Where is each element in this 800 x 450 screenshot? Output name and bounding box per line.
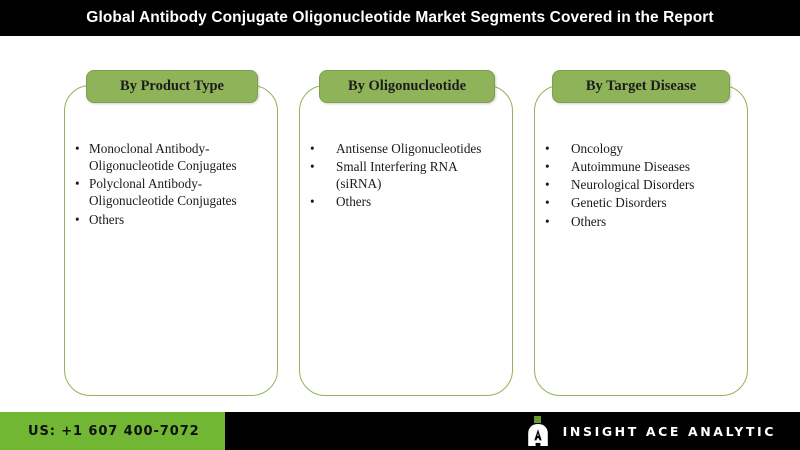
list-item: • Genetic Disorders — [545, 194, 737, 211]
segment-card-header-target-disease: By Target Disease — [552, 70, 730, 103]
list-item-label: Genetic Disorders — [571, 194, 737, 211]
bullet-icon: • — [310, 140, 315, 157]
bullet-icon: • — [310, 158, 315, 175]
bullet-icon: • — [310, 193, 315, 210]
segment-item-list: • Oncology • Autoimmune Diseases • Neuro… — [545, 140, 737, 230]
segment-card-product-type: • Monoclonal Antibody-Oligonucleotide Co… — [64, 85, 278, 396]
list-item-label: Others — [89, 211, 267, 228]
footer-bar: US: +1 607 400-7072 INSIGHT ACE ANALYTIC — [0, 412, 800, 450]
list-item-label: Others — [336, 193, 502, 210]
page-title: Global Antibody Conjugate Oligonucleotid… — [86, 9, 713, 27]
segment-card-body: • Oncology • Autoimmune Diseases • Neuro… — [535, 86, 747, 231]
list-item-label: Small Interfering RNA (siRNA) — [336, 158, 502, 192]
list-item: • Monoclonal Antibody-Oligonucleotide Co… — [75, 140, 267, 174]
list-item: • Small Interfering RNA (siRNA) — [310, 158, 502, 192]
bullet-icon: • — [75, 175, 80, 192]
list-item-label: Autoimmune Diseases — [571, 158, 737, 175]
title-bar: Global Antibody Conjugate Oligonucleotid… — [0, 0, 800, 36]
segment-card-header-label: By Product Type — [120, 78, 224, 95]
list-item: • Others — [310, 193, 502, 210]
bullet-icon: • — [545, 194, 550, 211]
segment-card-header-oligonucleotide: By Oligonucleotide — [319, 70, 495, 103]
list-item: • Others — [545, 213, 737, 230]
footer-brand-block: INSIGHT ACE ANALYTIC — [527, 412, 776, 450]
list-item: • Oncology — [545, 140, 737, 157]
insight-ace-logo-icon — [527, 416, 549, 446]
segment-card-body: • Antisense Oligonucleotides • Small Int… — [300, 86, 512, 212]
list-item-label: Neurological Disorders — [571, 176, 737, 193]
segment-card-body: • Monoclonal Antibody-Oligonucleotide Co… — [65, 86, 277, 229]
list-item-label: Polyclonal Antibody-Oligonucleotide Conj… — [89, 175, 267, 209]
segment-card-header-product-type: By Product Type — [86, 70, 258, 103]
bullet-icon: • — [75, 211, 80, 228]
footer-contact-block: US: +1 607 400-7072 — [0, 412, 225, 450]
segment-item-list: • Antisense Oligonucleotides • Small Int… — [310, 140, 502, 211]
list-item: • Neurological Disorders — [545, 176, 737, 193]
bullet-icon: • — [545, 158, 550, 175]
list-item: • Autoimmune Diseases — [545, 158, 737, 175]
list-item: • Polyclonal Antibody-Oligonucleotide Co… — [75, 175, 267, 209]
bullet-icon: • — [545, 140, 550, 157]
list-item-label: Others — [571, 213, 737, 230]
segment-card-header-label: By Target Disease — [586, 78, 696, 95]
segment-card-oligonucleotide: • Antisense Oligonucleotides • Small Int… — [299, 85, 513, 396]
list-item-label: Oncology — [571, 140, 737, 157]
list-item-label: Monoclonal Antibody-Oligonucleotide Conj… — [89, 140, 267, 174]
footer-brand-name: INSIGHT ACE ANALYTIC — [563, 424, 776, 439]
list-item: • Others — [75, 211, 267, 228]
list-item-label: Antisense Oligonucleotides — [336, 140, 502, 157]
segment-item-list: • Monoclonal Antibody-Oligonucleotide Co… — [75, 140, 267, 228]
segment-card-header-label: By Oligonucleotide — [348, 78, 466, 95]
logo-a-glyph — [527, 424, 549, 446]
infographic-canvas: • Monoclonal Antibody-Oligonucleotide Co… — [0, 36, 800, 412]
bullet-icon: • — [75, 140, 80, 157]
segment-card-target-disease: • Oncology • Autoimmune Diseases • Neuro… — [534, 85, 748, 396]
bullet-icon: • — [545, 213, 550, 230]
bullet-icon: • — [545, 176, 550, 193]
list-item: • Antisense Oligonucleotides — [310, 140, 502, 157]
logo-accent-square — [534, 416, 541, 423]
footer-phone-number[interactable]: US: +1 607 400-7072 — [28, 424, 200, 439]
